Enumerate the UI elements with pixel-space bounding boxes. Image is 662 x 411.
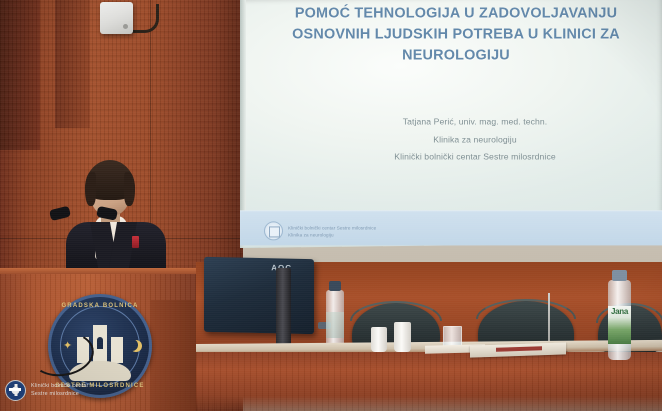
speaker-hair-right — [124, 172, 135, 206]
bottle-cap — [329, 281, 341, 291]
paper-cup — [394, 322, 411, 352]
castle-tower-middle — [93, 325, 107, 363]
bottle-label — [326, 312, 344, 338]
speaker-hair-left — [85, 172, 96, 206]
bottle-brand-label: Jana — [608, 307, 631, 316]
slide-institution: Klinički bolnički centar Sestre milosrdn… — [310, 148, 640, 166]
wifi-cable — [130, 4, 159, 33]
slide-title-line-1: POMOĆ TEHNOLOGIJA U ZADOVOLJAVANJU — [276, 3, 636, 24]
slide-footer-text: Klinički bolnički centar Sestre milosrdn… — [288, 224, 376, 238]
paper-cup — [371, 327, 387, 352]
slide-department: Klinika za neurologiju — [310, 131, 640, 149]
slide-title-line-2: OSNOVNIH LJUDSKIH POTREBA U KLINICI ZA — [276, 24, 636, 45]
hospital-cross-logo-icon — [5, 380, 26, 401]
projection-screen: POMOĆ TEHNOLOGIJA U ZADOVOLJAVANJU OSNOV… — [240, 0, 662, 248]
slide-footer-line-1: Klinički bolnički centar Sestre milosrdn… — [288, 224, 376, 231]
slide-footer-band: Klinički bolnički centar Sestre milosrdn… — [240, 210, 662, 245]
podium-logo-line-2: Sestre milosrdnice — [31, 391, 89, 399]
slide-footer: Klinički bolnički centar Sestre milosrdn… — [264, 221, 376, 240]
castle-tower-right — [111, 337, 123, 363]
hospital-seal-icon — [264, 221, 283, 240]
bottle-cap — [612, 270, 627, 281]
slide-footer-line-2: Klinika za neurologiju — [288, 231, 376, 238]
slide-author: Tatjana Perić, univ. mag. med. techn. — [310, 113, 640, 131]
podium-side-panel — [150, 300, 198, 411]
bottle-label: Jana — [608, 306, 631, 344]
crescent-moon-icon — [126, 339, 138, 351]
table-front-panel — [196, 352, 662, 411]
slide-subtitle: Tatjana Perić, univ. mag. med. techn. Kl… — [310, 113, 640, 166]
slide-title: POMOĆ TEHNOLOGIJA U ZADOVOLJAVANJU OSNOV… — [276, 3, 636, 66]
podium-seal-text-top: GRADSKA BOLNICA — [51, 303, 149, 309]
podium-logo-text: Klinički bolnički centar Sestre milosrdn… — [31, 383, 89, 398]
podium-logo: Klinički bolnički centar Sestre milosrdn… — [5, 380, 89, 401]
slide-title-line-3: NEUROLOGIJU — [276, 45, 636, 66]
wifi-access-point-icon — [100, 2, 133, 34]
screen-left-edge — [240, 0, 246, 245]
table-wood-texture — [196, 352, 662, 411]
presentation-photo-scene: POMOĆ TEHNOLOGIJA U ZADOVOLJAVANJU OSNOV… — [0, 0, 662, 411]
water-bottle-jana: Jana — [608, 280, 631, 360]
podium-logo-line-1: Klinički bolnički centar — [31, 383, 89, 391]
